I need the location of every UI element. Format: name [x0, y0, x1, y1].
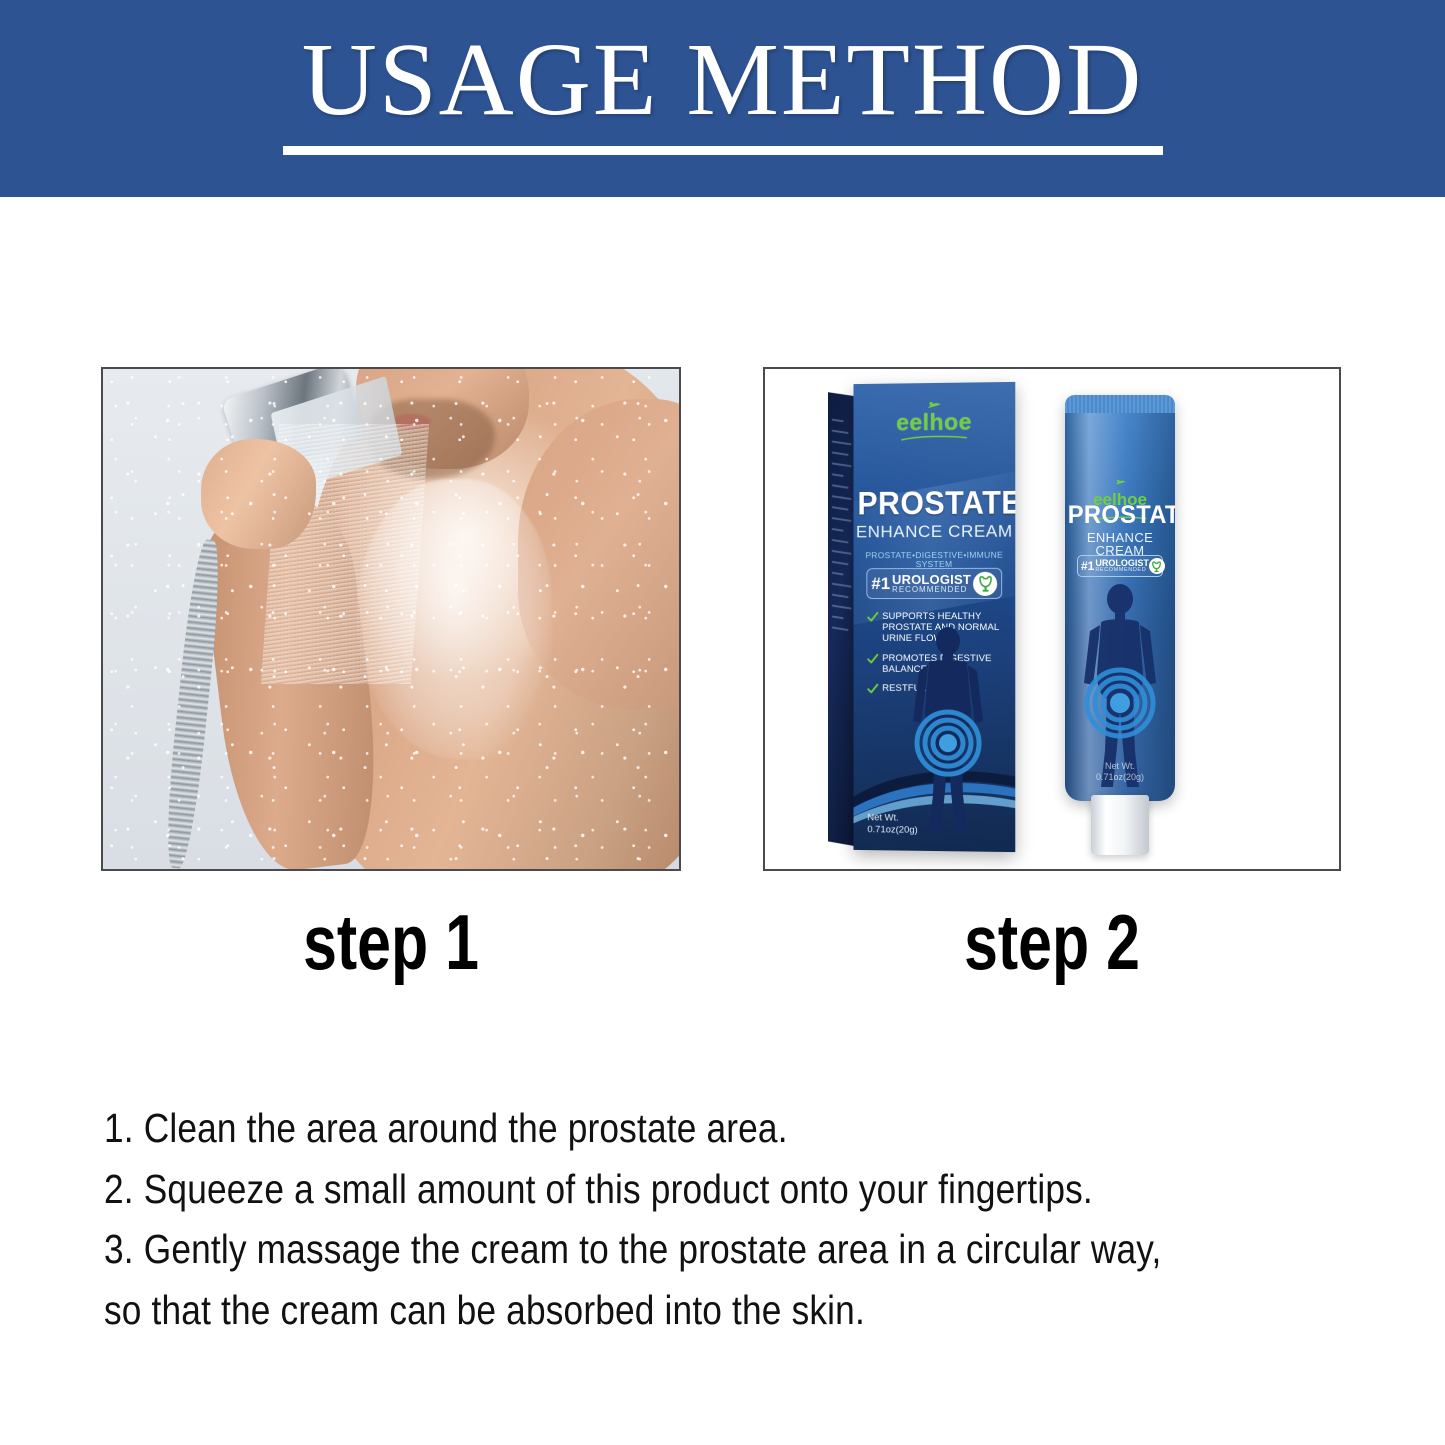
product-tube: eelhoe PROSTATE ENHANCE CREAM #1 UROLOGI… — [1065, 395, 1175, 857]
step-2-caption: step 2 — [827, 903, 1278, 981]
product-box: eelhoe PROSTATE ENHANCE CREAM PROSTATE•D… — [853, 382, 1015, 852]
box-product-subtitle: ENHANCE CREAM — [853, 523, 1015, 541]
step-1-photo-frame — [101, 367, 681, 871]
prostate-icon — [1149, 558, 1165, 574]
check-icon — [867, 612, 878, 623]
box-urologist-badge: #1 UROLOGIST RECOMMENDED — [866, 568, 1002, 599]
header-banner: USAGE METHOD — [0, 0, 1445, 197]
badge-sub-label: RECOMMENDED — [892, 586, 973, 594]
badge-text-group: UROLOGIST RECOMMENDED — [892, 573, 973, 594]
box-product-title: PROSTATE — [857, 486, 1011, 519]
instruction-line: 1. Clean the area around the prostate ar… — [104, 1098, 1188, 1159]
steps-row: step 1 — [0, 367, 1445, 1007]
bladder-glyph-icon — [976, 574, 995, 593]
box-front-panel: eelhoe PROSTATE ENHANCE CREAM PROSTATE•D… — [853, 382, 1015, 852]
brand-swoosh-icon — [897, 435, 971, 442]
check-icon — [867, 653, 878, 664]
tube-body: eelhoe PROSTATE ENHANCE CREAM #1 UROLOGI… — [1065, 395, 1175, 801]
product-photo: eelhoe PROSTATE ENHANCE CREAM PROSTATE•D… — [765, 369, 1339, 869]
box-side-panel — [828, 392, 856, 846]
badge-number: #1 — [871, 575, 890, 592]
box-side-text-lines — [832, 419, 853, 632]
tube-cap — [1091, 795, 1149, 855]
instruction-line: so that the cream can be absorbed into t… — [104, 1280, 1188, 1341]
instruction-line: 3. Gently massage the cream to the prost… — [104, 1219, 1188, 1280]
box-brand-logo: eelhoe — [853, 400, 1015, 442]
tube-product-subtitle: ENHANCE CREAM — [1065, 531, 1175, 557]
box-net-weight-label: Net Wt. — [867, 812, 917, 824]
badge-number: #1 — [1081, 560, 1094, 572]
box-systems-line: PROSTATE•DIGESTIVE•IMMUNE SYSTEM — [853, 551, 1015, 569]
tube-product-title: PROSTATE — [1068, 503, 1173, 528]
tube-net-weight-value: 0.71oz(20g) — [1065, 772, 1175, 783]
title-underline — [283, 146, 1163, 155]
box-brand-name: eelhoe — [853, 410, 1015, 435]
step-2-column: eelhoe PROSTATE ENHANCE CREAM PROSTATE•D… — [763, 367, 1341, 981]
step-2-photo-frame: eelhoe PROSTATE ENHANCE CREAM PROSTATE•D… — [763, 367, 1341, 871]
step-1-caption: step 1 — [165, 903, 617, 981]
tube-net-weight: Net Wt. 0.71oz(20g) — [1065, 761, 1175, 784]
tube-net-weight-label: Net Wt. — [1065, 761, 1175, 772]
box-body-silhouette-icon — [899, 625, 997, 836]
bladder-glyph-icon — [1150, 560, 1163, 573]
page-title: USAGE METHOD — [302, 28, 1144, 132]
prostate-icon — [973, 571, 997, 595]
box-net-weight-value: 0.71oz(20g) — [867, 824, 917, 836]
leaf-figure-icon — [1115, 479, 1126, 486]
check-icon — [867, 684, 878, 695]
tube-crimp-seal — [1065, 395, 1175, 413]
box-net-weight: Net Wt. 0.71oz(20g) — [867, 812, 917, 836]
badge-text-group: UROLOGIST RECOMMENDED — [1094, 559, 1149, 574]
shower-photo — [103, 369, 679, 869]
step-1-column: step 1 — [101, 367, 681, 981]
tube-urologist-badge: #1 UROLOGIST RECOMMENDED — [1077, 555, 1163, 577]
instructions-block: 1. Clean the area around the prostate ar… — [104, 1098, 1364, 1341]
badge-sub-label: RECOMMENDED — [1095, 568, 1149, 574]
water-droplets — [103, 369, 679, 869]
instruction-line: 2. Squeeze a small amount of this produc… — [104, 1159, 1188, 1220]
